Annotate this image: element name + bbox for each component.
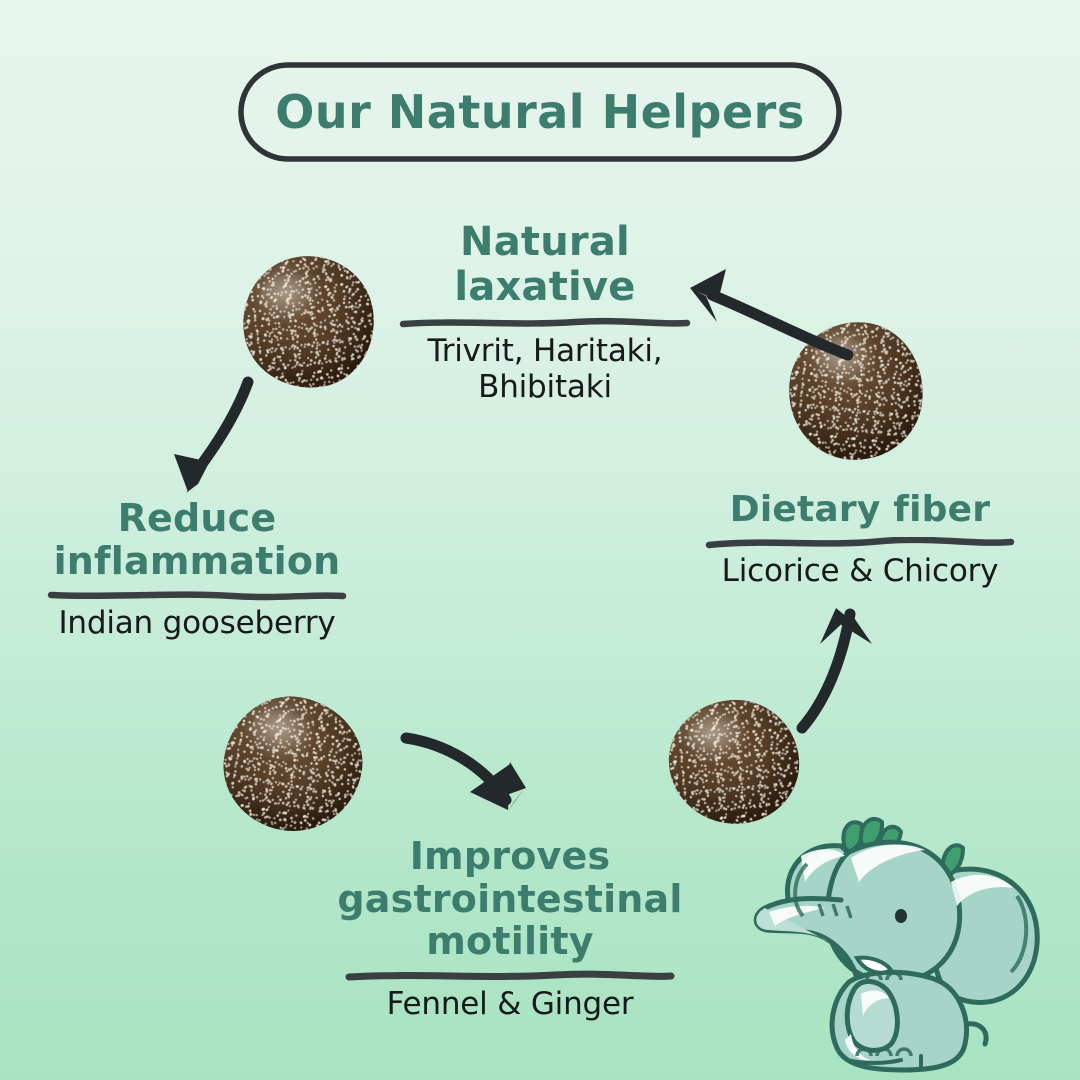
underline-stroke: [345, 970, 675, 982]
node-heading-line1: Improves: [315, 835, 705, 878]
baby-elephant-mascot-icon: [745, 812, 1065, 1080]
node-subtitle-line2: Bhibitaki: [375, 369, 715, 406]
node-heading-line3: motility: [315, 920, 705, 963]
arrow-up-right-icon: [780, 588, 920, 738]
node-subtitle-line1: Trivrit, Haritaki,: [375, 333, 715, 370]
node-natural-laxative: Natural laxative Trivrit, Haritaki, Bhib…: [375, 220, 715, 406]
infographic-canvas: Our Natural Helpers: [0, 0, 1080, 1080]
node-heading-line2: laxative: [375, 265, 715, 310]
underline-stroke: [705, 537, 1015, 549]
node-heading: Dietary fiber: [690, 490, 1030, 530]
title-pill: Our Natural Helpers: [238, 62, 842, 162]
node-subtitle-line1: Indian gooseberry: [22, 605, 372, 642]
node-subtitle-line1: Fennel & Ginger: [315, 986, 705, 1023]
node-subtitle: Licorice & Chicory: [690, 553, 1030, 590]
node-heading-line1: Dietary fiber: [690, 490, 1030, 530]
arrow-down-right-icon: [398, 718, 548, 828]
node-subtitle: Indian gooseberry: [22, 605, 372, 642]
node-heading: Improves gastrointestinal motility: [315, 835, 705, 963]
elephant-eye: [895, 909, 907, 923]
underline-stroke: [399, 317, 691, 329]
node-subtitle: Fennel & Ginger: [315, 986, 705, 1023]
node-heading-line1: Natural: [375, 220, 715, 265]
node-subtitle-line1: Licorice & Chicory: [690, 553, 1030, 590]
node-heading: Natural laxative: [375, 220, 715, 310]
node-heading-line1: Reduce: [22, 497, 372, 540]
arrow-down-left-icon: [148, 368, 288, 508]
gummy-candy: [213, 686, 372, 842]
node-heading-line2: inflammation: [22, 540, 372, 583]
node-reduce-inflammation: Reduce inflammation Indian gooseberry: [22, 497, 372, 642]
elephant-tail: [967, 1024, 986, 1044]
node-heading: Reduce inflammation: [22, 497, 372, 582]
sugar-coating-texture: [213, 686, 372, 842]
node-dietary-fiber: Dietary fiber Licorice & Chicory: [690, 490, 1030, 590]
node-heading-line2: gastrointestinal: [315, 878, 705, 921]
node-gastrointestinal-motility: Improves gastrointestinal motility Fenne…: [315, 835, 705, 1022]
underline-stroke: [47, 589, 347, 601]
node-subtitle: Trivrit, Haritaki, Bhibitaki: [375, 333, 715, 406]
page-title: Our Natural Helpers: [238, 62, 842, 162]
